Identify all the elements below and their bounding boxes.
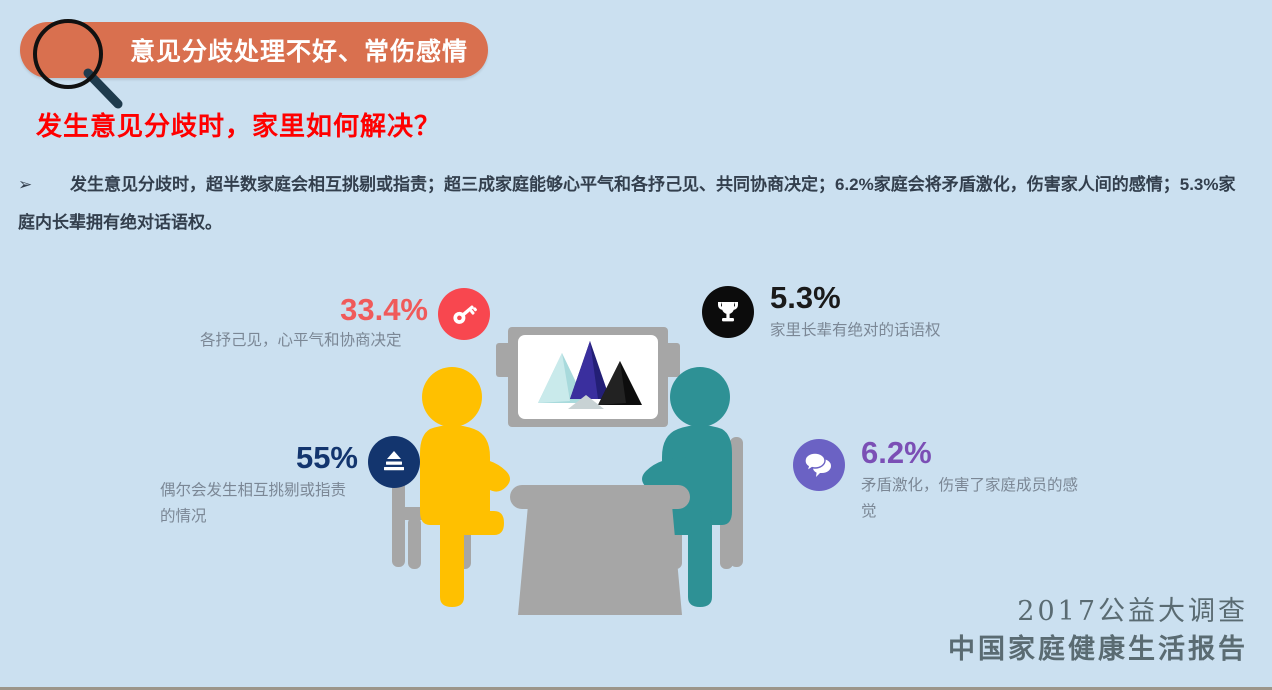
stacked-bars-icon <box>380 448 408 476</box>
stat-value: 6.2% <box>861 437 932 468</box>
header-banner: 意见分歧处理不好、常伤感情 <box>20 22 488 78</box>
stat-value: 55% <box>296 442 358 473</box>
table <box>510 485 690 615</box>
stacked-bars-icon-badge <box>368 436 420 488</box>
presentation-screen <box>496 327 680 427</box>
illustration-meeting-scene <box>390 325 810 625</box>
key-icon <box>449 299 479 329</box>
stat-description: 家里长辈有绝对的话语权 <box>770 318 1040 344</box>
bullet-arrow-icon: ➢ <box>18 166 70 204</box>
page-title: 发生意见分歧时，家里如何解决？ <box>36 106 441 143</box>
footer-survey-name: 2017公益大调查 <box>948 593 1248 631</box>
summary-paragraph: ➢发生意见分歧时，超半数家庭会相互挑剔或指责；超三成家庭能够心平气和各抒己见、共… <box>18 166 1240 242</box>
stat-description: 矛盾激化，伤害了家庭成员的感觉 <box>861 473 1091 525</box>
footer-report-name: 中国家庭健康生活报告 <box>948 631 1248 669</box>
trophy-icon <box>713 297 743 327</box>
key-icon-badge <box>438 288 490 340</box>
banner-title: 意见分歧处理不好、常伤感情 <box>130 32 468 68</box>
footer: 2017公益大调查 中国家庭健康生活报告 <box>948 593 1248 669</box>
stat-description: 各抒己见，心平气和协商决定 <box>200 328 440 354</box>
person-left <box>420 367 510 607</box>
speech-bubbles-icon <box>803 450 835 480</box>
stat-value: 33.4% <box>340 294 428 325</box>
infographic-slide: 意见分歧处理不好、常伤感情 发生意见分歧时，家里如何解决？ ➢发生意见分歧时，超… <box>0 0 1272 687</box>
stat-description: 偶尔会发生相互挑剔或指责的情况 <box>160 478 360 530</box>
stat-value: 5.3% <box>770 282 841 313</box>
summary-paragraph-text: 发生意见分歧时，超半数家庭会相互挑剔或指责；超三成家庭能够心平气和各抒己见、共同… <box>18 175 1236 232</box>
trophy-icon-badge <box>702 286 754 338</box>
speech-bubbles-icon-badge <box>793 439 845 491</box>
